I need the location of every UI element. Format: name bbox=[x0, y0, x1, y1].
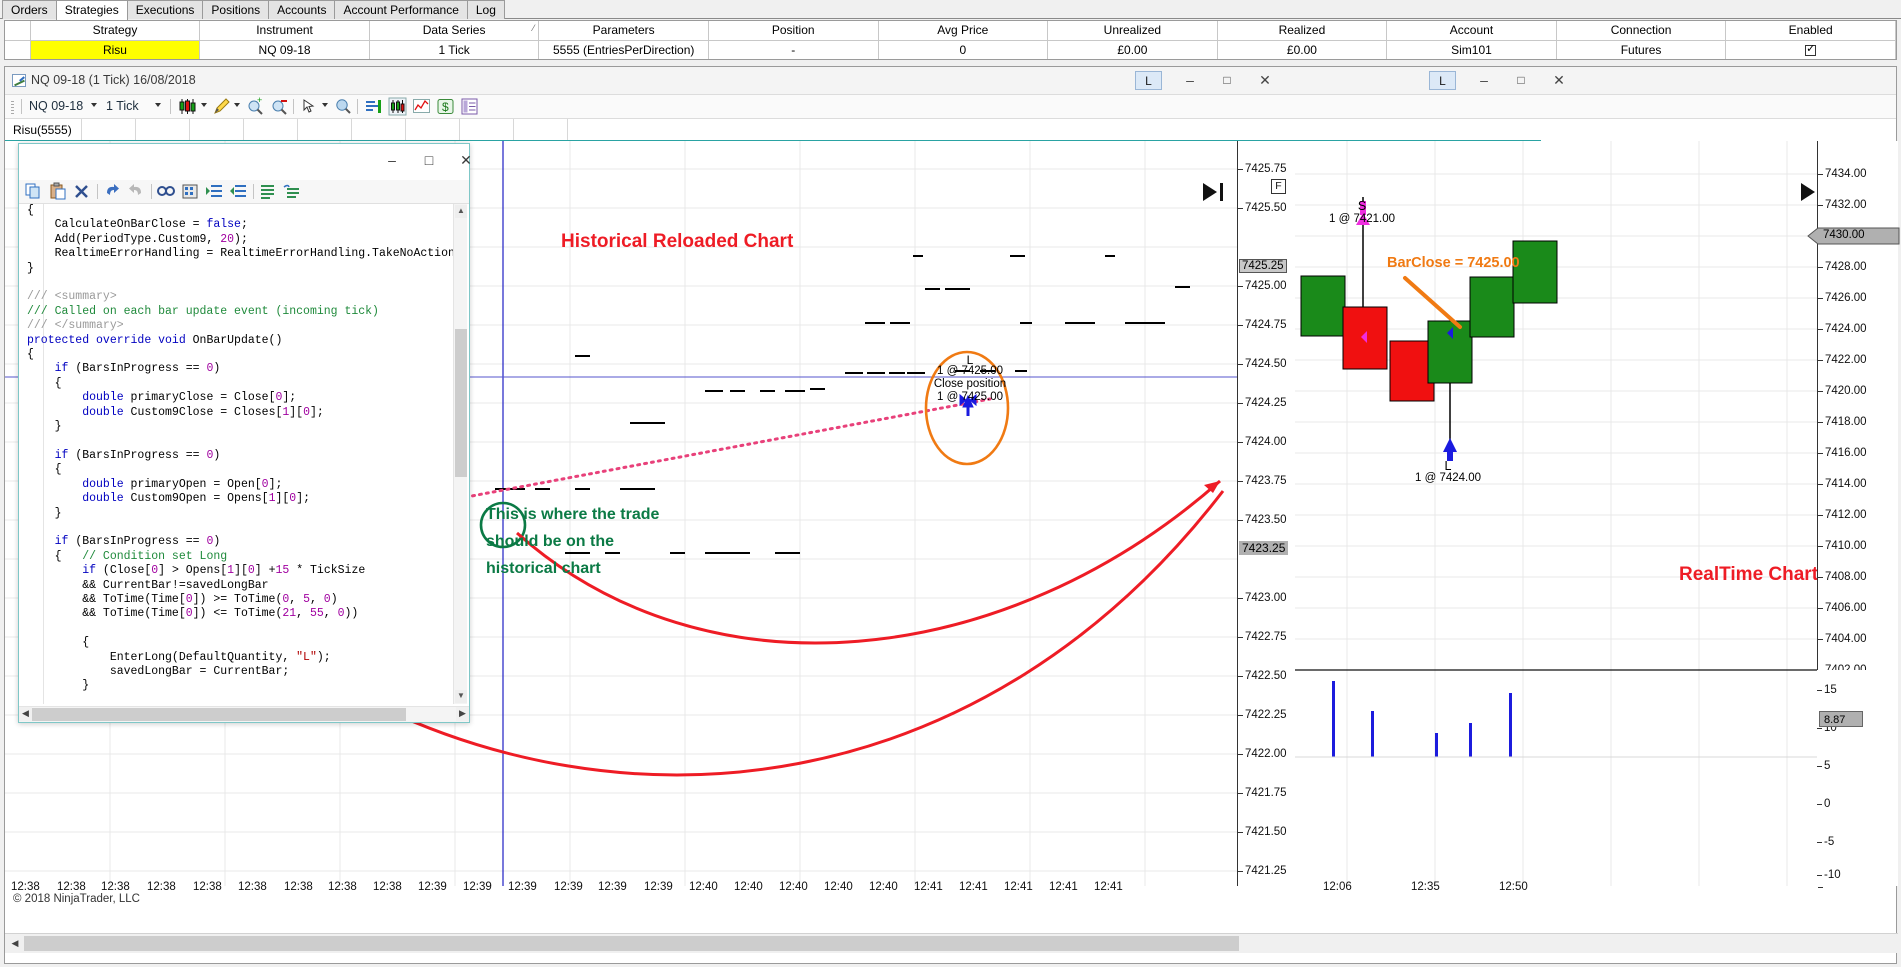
editor-scroll-thumb[interactable] bbox=[455, 329, 467, 477]
axis-label: 7406.00 bbox=[1825, 602, 1867, 614]
axis-label: 7425.75 bbox=[1245, 163, 1287, 175]
axis-tick bbox=[1818, 453, 1823, 454]
code-line: if (BarsInProgress == 0) bbox=[27, 449, 455, 463]
axis-label: 7416.00 bbox=[1825, 447, 1867, 459]
axis-tick bbox=[1238, 871, 1243, 872]
rt-sell-marker-label: S bbox=[1327, 199, 1397, 213]
indicator-col-sep bbox=[135, 119, 136, 141]
axis-tick bbox=[1238, 754, 1243, 755]
vol-axis-label: 5 bbox=[1824, 760, 1830, 772]
code-line: } bbox=[27, 420, 455, 434]
axis-tick bbox=[1238, 208, 1243, 209]
code-line: { // Condition set Long bbox=[27, 550, 455, 564]
magnifier-icon[interactable] bbox=[335, 98, 352, 115]
volume-value-badge: 8.87 bbox=[1819, 711, 1863, 727]
axis-label: 7421.25 bbox=[1245, 865, 1287, 877]
dollar-icon[interactable]: $ bbox=[437, 98, 454, 115]
time-label: 12:38 bbox=[57, 881, 86, 893]
col-instrument-label: Instrument bbox=[256, 23, 313, 37]
code-line: protected override void OnBarUpdate() bbox=[27, 334, 455, 348]
editor-code-area[interactable]: { CalculateOnBarClose = false; Add(Perio… bbox=[27, 204, 455, 704]
axis-tick bbox=[1238, 520, 1243, 521]
toolbar-divider-4 bbox=[357, 99, 358, 114]
secondary-price-marker: 7423.25 bbox=[1239, 541, 1288, 555]
editor-vertical-scrollbar[interactable]: ▲ ▼ bbox=[453, 204, 467, 704]
toolbar-grip[interactable] bbox=[11, 101, 14, 114]
axis-tick bbox=[1238, 169, 1243, 170]
col-position[interactable]: Position bbox=[708, 21, 878, 40]
axis-tick bbox=[1238, 442, 1243, 443]
axis-tick bbox=[1818, 267, 1823, 268]
axis-tick bbox=[1818, 484, 1823, 485]
code-line bbox=[27, 435, 455, 449]
axis-tick bbox=[1818, 422, 1823, 423]
time-label: 12:39 bbox=[418, 881, 447, 893]
historical-chart-title-annotation: Historical Reloaded Chart bbox=[561, 231, 793, 253]
axis-label: 7426.00 bbox=[1825, 292, 1867, 304]
code-line: /// Called on each bar update event (inc… bbox=[27, 305, 455, 319]
tab-executions[interactable]: Executions bbox=[127, 0, 204, 19]
redo-icon[interactable] bbox=[127, 183, 145, 200]
editor-horizontal-scrollbar[interactable]: ◀ ▶ bbox=[19, 706, 469, 722]
candlestick-type-icon[interactable] bbox=[179, 98, 196, 115]
indicator-col-sep bbox=[459, 119, 460, 141]
chart-horizontal-scrollbar[interactable]: ◀ ▶ bbox=[5, 933, 1898, 953]
time-label: 12:38 bbox=[328, 881, 357, 893]
axis-label: 7424.25 bbox=[1245, 397, 1287, 409]
svg-text:$: $ bbox=[442, 100, 449, 114]
code-line: } bbox=[27, 507, 455, 521]
tab-log-label: Log bbox=[476, 3, 496, 17]
copy-icon[interactable] bbox=[25, 183, 43, 200]
rt-sell-price-label: 1 @ 7421.00 bbox=[1317, 213, 1407, 225]
chart-window-icon bbox=[12, 74, 26, 87]
cell-realized: £0.00 bbox=[1217, 40, 1387, 59]
realtime-current-price-marker: 7430.00 bbox=[1808, 227, 1899, 245]
axis-tick bbox=[1818, 577, 1823, 578]
code-line: CalculateOnBarClose = false; bbox=[27, 218, 455, 232]
axis-tick bbox=[1238, 598, 1243, 599]
axis-tick bbox=[1238, 481, 1243, 482]
axis-label: 7425.00 bbox=[1245, 280, 1287, 292]
realtime-current-price-text: 7430.00 bbox=[1823, 229, 1865, 241]
chart-titlebar: NQ 09-18 (1 Tick) 16/08/2018 L – □ ✕ L –… bbox=[5, 67, 1896, 95]
editor-divider-2 bbox=[151, 184, 152, 199]
indicator-col-sep bbox=[297, 119, 298, 141]
code-line: && ToTime(Time[0]) >= ToTime(0, 5, 0) bbox=[27, 593, 455, 607]
axis-tick bbox=[1818, 174, 1823, 175]
col-connection[interactable]: Connection bbox=[1556, 21, 1726, 40]
axis-label: 7434.00 bbox=[1825, 168, 1867, 180]
time-label: 12:06 bbox=[1323, 881, 1352, 893]
zoom-in-icon[interactable]: + bbox=[247, 98, 264, 115]
indicator-icon[interactable] bbox=[389, 98, 406, 115]
cell-connection: Futures bbox=[1556, 40, 1726, 59]
col-position-label: Position bbox=[772, 23, 815, 37]
axis-label: 7432.00 bbox=[1825, 199, 1867, 211]
code-line: { bbox=[27, 348, 455, 362]
indicator-col-sep bbox=[513, 119, 514, 141]
cell-parameters: 5555 (EntriesPerDirection) bbox=[539, 40, 709, 59]
code-line: if (BarsInProgress == 0) bbox=[27, 362, 455, 376]
code-line: savedLongBar = CurrentBar; bbox=[27, 665, 455, 679]
tab-positions[interactable]: Positions bbox=[202, 0, 269, 19]
axis-label: 7421.50 bbox=[1245, 826, 1287, 838]
axis-label: 7420.00 bbox=[1825, 385, 1867, 397]
table-row[interactable]: Risu NQ 09-18 1 Tick 5555 (EntriesPerDir… bbox=[5, 40, 1896, 59]
col-avg-price-label: Avg Price bbox=[937, 23, 988, 37]
hist-exec-line1: 1 @ 7425.00 bbox=[910, 365, 1030, 377]
time-label: 12:40 bbox=[734, 881, 763, 893]
time-label: 12:50 bbox=[1499, 881, 1528, 893]
minimize-button-left[interactable]: – bbox=[1173, 70, 1207, 92]
instrument-selector-label[interactable]: NQ 09-18 bbox=[29, 99, 83, 113]
time-label: 12:39 bbox=[463, 881, 492, 893]
axis-label: 7418.00 bbox=[1825, 416, 1867, 428]
interval-selector-label[interactable]: 1 Tick bbox=[106, 99, 139, 113]
chart-toolbar: NQ 09-18 1 Tick bbox=[5, 95, 1896, 119]
axis-label: 7414.00 bbox=[1825, 478, 1867, 490]
axis-label: 7410.00 bbox=[1825, 540, 1867, 552]
find-icon[interactable] bbox=[157, 183, 175, 200]
row-selector[interactable] bbox=[5, 40, 30, 59]
code-line: EnterLong(DefaultQuantity, "L"); bbox=[27, 651, 455, 665]
time-label: 12:38 bbox=[284, 881, 313, 893]
historical-price-axis[interactable]: 7425.75 7425.50 7425.25 7425.00 7424.75 … bbox=[1237, 141, 1295, 886]
tab-account-performance[interactable]: Account Performance bbox=[334, 0, 467, 19]
hist-exec-line2: Close position bbox=[910, 378, 1030, 390]
col-unrealized[interactable]: Unrealized bbox=[1048, 21, 1218, 40]
time-label: 12:41 bbox=[1049, 881, 1078, 893]
tab-strategies[interactable]: Strategies bbox=[56, 0, 128, 20]
axis-label: 7424.00 bbox=[1825, 323, 1867, 335]
editor-scroll-left-icon[interactable]: ◀ bbox=[19, 707, 32, 721]
code-line: double Custom9Close = Closes[1][0]; bbox=[27, 406, 455, 420]
rt-buy-price-label: 1 @ 7424.00 bbox=[1403, 472, 1493, 484]
red-pointer-curve-2 bbox=[345, 491, 1223, 775]
time-label: 12:38 bbox=[193, 881, 222, 893]
f-badge[interactable]: F bbox=[1271, 179, 1286, 194]
time-label: 12:40 bbox=[869, 881, 898, 893]
axis-label: 7422.50 bbox=[1245, 670, 1287, 682]
editor-minimize-button[interactable]: – bbox=[374, 148, 410, 174]
editor-hscroll-thumb[interactable] bbox=[32, 708, 406, 721]
maximize-button-left[interactable]: □ bbox=[1210, 70, 1244, 92]
scroll-track-realtime[interactable] bbox=[1241, 936, 1879, 951]
time-label: 12:38 bbox=[11, 881, 40, 893]
barclose-pointer-line bbox=[1405, 278, 1460, 327]
axis-label: 7404.00 bbox=[1825, 633, 1867, 645]
axis-tick bbox=[1238, 325, 1243, 326]
hist-exec-line3: 1 @ 7425.00 bbox=[910, 391, 1030, 403]
realtime-long-marker bbox=[1443, 438, 1457, 461]
tab-executions-label: Executions bbox=[136, 3, 195, 17]
code-line: Add(PeriodType.Custom9, 20); bbox=[27, 233, 455, 247]
time-label: 12:39 bbox=[644, 881, 673, 893]
axis-tick bbox=[1238, 637, 1243, 638]
col-instrument[interactable]: Instrument bbox=[200, 21, 370, 40]
col-strategy[interactable]: Strategy bbox=[30, 21, 200, 40]
rt-buy-marker-label: L bbox=[1413, 459, 1483, 473]
editor-scroll-right-icon[interactable]: ▶ bbox=[456, 707, 469, 721]
grid-header-row: Strategy Instrument Data Series⁄ Paramet… bbox=[5, 21, 1896, 40]
chart-trader-icon[interactable] bbox=[413, 98, 430, 115]
pink-dotted-trendline bbox=[445, 399, 990, 501]
col-account-label: Account bbox=[1450, 23, 1493, 37]
col-enabled-label: Enabled bbox=[1789, 23, 1833, 37]
cursor-chevron-down-icon[interactable] bbox=[322, 103, 328, 107]
outdent-icon[interactable] bbox=[229, 183, 247, 200]
code-line: { bbox=[27, 377, 455, 391]
svg-text:+: + bbox=[257, 95, 262, 105]
code-line: && CurrentBar!=savedLongBar bbox=[27, 579, 455, 593]
code-line: } bbox=[27, 262, 455, 276]
trade-location-annotation: This is where the trade should be on the… bbox=[486, 501, 659, 582]
axis-tick bbox=[1818, 391, 1823, 392]
interval-chevron-down-icon[interactable] bbox=[155, 103, 161, 107]
toolbar-divider-2 bbox=[170, 99, 171, 114]
col-connection-label: Connection bbox=[1611, 23, 1672, 37]
col-data-series[interactable]: Data Series⁄ bbox=[369, 21, 539, 40]
gridlines-vertical-rt bbox=[1347, 141, 1787, 886]
indicator-col-sep bbox=[405, 119, 406, 141]
indicator-col-sep bbox=[243, 119, 244, 141]
axis-tick bbox=[1818, 360, 1823, 361]
chart-window-title: NQ 09-18 (1 Tick) 16/08/2018 bbox=[31, 73, 196, 87]
cell-strategy[interactable]: Risu bbox=[30, 40, 200, 59]
code-line bbox=[27, 521, 455, 535]
editor-titlebar[interactable]: – □ ✕ bbox=[19, 144, 469, 180]
axis-tick bbox=[1818, 546, 1823, 547]
axis-tick bbox=[1238, 364, 1243, 365]
axis-label: 7421.75 bbox=[1245, 787, 1287, 799]
time-label: 12:40 bbox=[779, 881, 808, 893]
code-editor-window[interactable]: – □ ✕ bbox=[18, 143, 470, 723]
indicator-col-sep bbox=[567, 119, 568, 141]
time-label: 12:41 bbox=[914, 881, 943, 893]
indicator-row: Risu(5555) bbox=[5, 119, 1896, 141]
cell-position: - bbox=[708, 40, 878, 59]
code-line: if (BarsInProgress == 0) bbox=[27, 535, 455, 549]
gridlines-horizontal-rt bbox=[1295, 174, 1898, 670]
code-line: /// <summary> bbox=[27, 290, 455, 304]
axis-label: 7422.00 bbox=[1245, 748, 1287, 760]
copyright-text: © 2018 NinjaTrader, LLC bbox=[13, 893, 140, 905]
axis-tick bbox=[1817, 875, 1822, 876]
axis-tick bbox=[1818, 298, 1823, 299]
scroll-up-arrow-icon[interactable]: ▲ bbox=[455, 205, 467, 218]
cursor-select-icon[interactable] bbox=[301, 98, 318, 115]
code-line: if (Close[0] > Opens[1][0] +15 * TickSiz… bbox=[27, 564, 455, 578]
axis-label: 7425.50 bbox=[1245, 202, 1287, 214]
instrument-chevron-down-icon[interactable] bbox=[91, 103, 97, 107]
tab-log[interactable]: Log bbox=[467, 0, 505, 19]
col-strategy-label: Strategy bbox=[93, 23, 138, 37]
cell-avg-price: 0 bbox=[878, 40, 1048, 59]
axis-label: 7422.00 bbox=[1825, 354, 1867, 366]
vol-axis-label: 0 bbox=[1824, 798, 1830, 810]
close-button-left[interactable]: ✕ bbox=[1248, 70, 1282, 92]
tab-accounts-label: Accounts bbox=[277, 3, 326, 17]
col-parameters[interactable]: Parameters bbox=[539, 21, 709, 40]
tab-accounts[interactable]: Accounts bbox=[268, 0, 335, 19]
time-label: 12:41 bbox=[1094, 881, 1123, 893]
indicator-col-sep bbox=[351, 119, 352, 141]
time-label: 12:40 bbox=[824, 881, 853, 893]
tab-positions-label: Positions bbox=[211, 3, 260, 17]
axis-tick bbox=[1818, 608, 1823, 609]
col-unrealized-label: Unrealized bbox=[1104, 23, 1161, 37]
axis-tick bbox=[1238, 793, 1243, 794]
code-line: /// </summary> bbox=[27, 319, 455, 333]
vol-axis-label: 15 bbox=[1824, 684, 1837, 696]
indicator-col-sep bbox=[189, 119, 190, 141]
axis-label: 7424.75 bbox=[1245, 319, 1287, 331]
time-label: 12:41 bbox=[1004, 881, 1033, 893]
uncomment-icon[interactable] bbox=[283, 183, 301, 200]
cell-data-series: 1 Tick bbox=[369, 40, 539, 59]
barclose-annotation: BarClose = 7425.00 bbox=[1387, 255, 1520, 271]
volume-bars bbox=[1332, 681, 1512, 757]
realtime-volume-axis: 15 10 5 0 -5 -10 8.87 bbox=[1817, 670, 1898, 886]
col-enabled[interactable]: Enabled bbox=[1726, 21, 1896, 40]
zoom-out-icon[interactable] bbox=[271, 98, 288, 115]
scroll-left-arrow-icon[interactable]: ◀ bbox=[6, 935, 24, 952]
code-line: { bbox=[27, 463, 455, 477]
enabled-checkbox[interactable] bbox=[1805, 45, 1816, 56]
editor-divider-1 bbox=[97, 184, 98, 199]
axis-tick bbox=[1817, 690, 1822, 691]
time-label: 12:38 bbox=[373, 881, 402, 893]
axis-label: 7428.00 bbox=[1825, 261, 1867, 273]
code-line: RealtimeErrorHandling = RealtimeErrorHan… bbox=[27, 247, 455, 261]
axis-label: 7408.00 bbox=[1825, 571, 1867, 583]
cell-unrealized: £0.00 bbox=[1048, 40, 1218, 59]
axis-tick bbox=[1238, 286, 1243, 287]
col-parameters-label: Parameters bbox=[593, 23, 655, 37]
time-label: 12:40 bbox=[689, 881, 718, 893]
realtime-chart-title-annotation: RealTime Chart bbox=[1679, 564, 1818, 586]
tab-strip: Orders Strategies Executions Positions A… bbox=[0, 0, 1901, 19]
cell-enabled[interactable] bbox=[1726, 40, 1896, 59]
tab-orders-label: Orders bbox=[11, 3, 48, 17]
axis-tick bbox=[1818, 515, 1823, 516]
delete-icon[interactable] bbox=[73, 183, 91, 200]
indicator-col-sep bbox=[81, 119, 82, 141]
paste-icon[interactable] bbox=[49, 183, 67, 200]
axis-tick bbox=[1818, 639, 1823, 640]
realtime-time-axis: 12:06 12:35 12:50 bbox=[1295, 881, 1898, 903]
cell-account: Sim101 bbox=[1387, 40, 1557, 59]
bookmark-icon[interactable] bbox=[181, 183, 199, 200]
axis-tick bbox=[1818, 205, 1823, 206]
code-line bbox=[27, 694, 455, 704]
col-avg-price[interactable]: Avg Price bbox=[878, 21, 1048, 40]
time-label: 12:39 bbox=[598, 881, 627, 893]
realtime-chart-panel[interactable]: S 1 @ 7421.00 BarClose = 7425.00 L 1 @ 7… bbox=[1295, 141, 1898, 886]
close-button-right[interactable]: ✕ bbox=[1542, 70, 1576, 92]
minimize-button-right[interactable]: – bbox=[1467, 70, 1501, 92]
realtime-candles bbox=[1301, 197, 1557, 441]
axis-tick bbox=[1818, 329, 1823, 330]
editor-maximize-button[interactable]: □ bbox=[411, 148, 447, 174]
col-account[interactable]: Account bbox=[1387, 21, 1557, 40]
code-line: && ToTime(Time[0]) <= ToTime(21, 55, 0)) bbox=[27, 607, 455, 621]
properties-icon[interactable] bbox=[461, 98, 478, 115]
code-line: { bbox=[27, 204, 455, 218]
axis-tick bbox=[1817, 766, 1822, 767]
indent-icon[interactable] bbox=[205, 183, 223, 200]
axis-tick bbox=[1817, 842, 1822, 843]
time-label: 12:38 bbox=[147, 881, 176, 893]
axis-label: 7424.00 bbox=[1245, 436, 1287, 448]
axis-label: 7422.25 bbox=[1245, 709, 1287, 721]
candlestick-chevron-down-icon[interactable] bbox=[201, 103, 207, 107]
code-line: double Custom9Open = Opens[1][0]; bbox=[27, 492, 455, 506]
time-label: 12:38 bbox=[238, 881, 267, 893]
axis-label: 7423.00 bbox=[1245, 592, 1287, 604]
scroll-down-arrow-icon[interactable]: ▼ bbox=[455, 690, 467, 703]
scroll-to-end-icon-historical[interactable] bbox=[1201, 181, 1227, 203]
axis-tick bbox=[1238, 715, 1243, 716]
indicator-label[interactable]: Risu(5555) bbox=[13, 123, 72, 137]
col-realized[interactable]: Realized bbox=[1217, 21, 1387, 40]
editor-divider-3 bbox=[253, 184, 254, 199]
link-badge-right[interactable]: L bbox=[1429, 71, 1456, 90]
volume-value-text: 8.87 bbox=[1824, 714, 1845, 726]
scroll-thumb-historical[interactable] bbox=[24, 936, 1239, 951]
axis-label: 7422.75 bbox=[1245, 631, 1287, 643]
data-box-icon[interactable] bbox=[365, 98, 382, 115]
axis-label: 7423.75 bbox=[1245, 475, 1287, 487]
realtime-chart-svg bbox=[1295, 141, 1898, 886]
editor-toolbar bbox=[19, 180, 469, 204]
pencil-chevron-down-icon[interactable] bbox=[234, 103, 240, 107]
grid-corner bbox=[5, 21, 30, 40]
axis-label: 7423.50 bbox=[1245, 514, 1287, 526]
undo-icon[interactable] bbox=[103, 183, 121, 200]
col-realized-label: Realized bbox=[1279, 23, 1326, 37]
time-label: 12:35 bbox=[1411, 881, 1440, 893]
strategies-grid: Strategy Instrument Data Series⁄ Paramet… bbox=[4, 20, 1897, 60]
tab-orders[interactable]: Orders bbox=[2, 0, 57, 19]
editor-close-button[interactable]: ✕ bbox=[448, 148, 484, 174]
axis-tick bbox=[1817, 728, 1822, 729]
axis-label: 7424.50 bbox=[1245, 358, 1287, 370]
current-price-marker: 7425.25 bbox=[1239, 259, 1287, 273]
drawing-pencil-icon[interactable] bbox=[213, 98, 230, 115]
toolbar-divider bbox=[21, 99, 22, 114]
sort-indicator-icon: ⁄ bbox=[533, 23, 535, 33]
tab-account-performance-label: Account Performance bbox=[343, 3, 458, 17]
axis-tick bbox=[1238, 403, 1243, 404]
vol-axis-label: -5 bbox=[1824, 836, 1834, 848]
time-label: 12:39 bbox=[508, 881, 537, 893]
cell-instrument: NQ 09-18 bbox=[200, 40, 370, 59]
code-line: } bbox=[27, 679, 455, 693]
code-line: { bbox=[27, 636, 455, 650]
code-line: double primaryOpen = Open[0]; bbox=[27, 478, 455, 492]
code-line: double primaryClose = Close[0]; bbox=[27, 391, 455, 405]
comment-icon[interactable] bbox=[259, 183, 277, 200]
axis-tick bbox=[1238, 832, 1243, 833]
time-label: 12:41 bbox=[959, 881, 988, 893]
vol-axis-label: -10 bbox=[1824, 869, 1841, 881]
axis-label: 7412.00 bbox=[1825, 509, 1867, 521]
tab-strategies-label: Strategies bbox=[65, 3, 119, 17]
maximize-button-right[interactable]: □ bbox=[1504, 70, 1538, 92]
link-badge-left[interactable]: L bbox=[1135, 71, 1162, 90]
